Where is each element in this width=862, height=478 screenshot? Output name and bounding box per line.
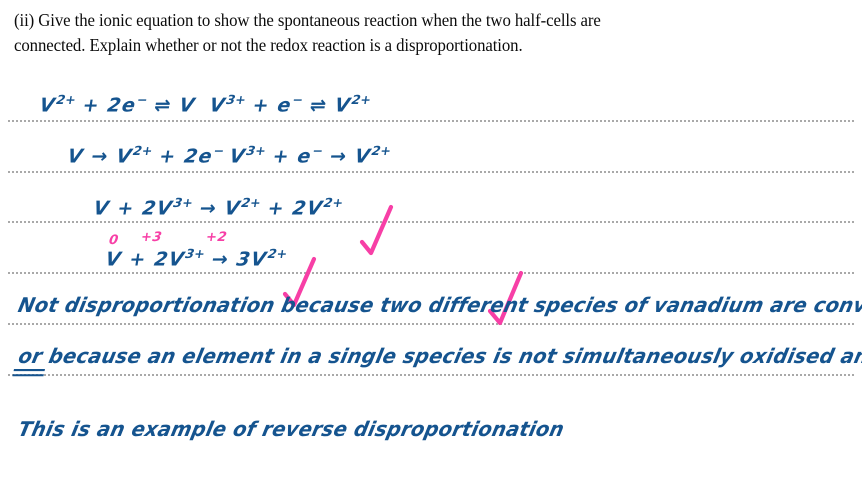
answer-comment-line-2: or because an element in a single specie…: [16, 344, 862, 369]
ruled-line-4: [8, 272, 854, 274]
answer-comment-line-1: Not disproportionation because two diffe…: [16, 293, 862, 317]
answer-comment-line-3: This is an example of reverse disproport…: [16, 417, 566, 441]
equation-overall-simplified: V + 2V3+ → 3V2+: [104, 246, 288, 270]
ruled-line-3: [8, 221, 854, 223]
question-line-1: (ii) Give the ionic equation to show the…: [14, 8, 801, 33]
answer-comment-line-2-text: because an element in a single species i…: [40, 344, 862, 368]
question-text: (ii) Give the ionic equation to show the…: [14, 8, 801, 58]
ruled-line-6: [8, 374, 854, 376]
question-line-2: connected. Explain whether or not the re…: [14, 33, 801, 58]
equation-overall-unsimplified: V + 2V3+ → V2+ + 2V2+: [92, 195, 344, 219]
ruled-line-5: [8, 323, 854, 325]
oxidation-state-label-plus3: +3: [140, 230, 163, 245]
equation-oxidation-half: V → V2+ + 2e−: [66, 143, 225, 167]
answer-sheet: V2+ + 2e− ⇌ V V3+ + e− ⇌ V2+ V → V2+ + 2…: [0, 80, 862, 478]
ruled-line-1: [8, 120, 854, 122]
ruled-line-2: [8, 171, 854, 173]
oxidation-state-label-plus2: +2: [205, 230, 228, 245]
tick-mark-1: [360, 204, 394, 256]
equation-half-cell-v3-v2: V3+ + e− ⇌ V2+: [208, 92, 372, 116]
equation-half-cell-v2-v: V2+ + 2e− ⇌ V: [38, 92, 197, 116]
equation-reduction-half: V3+ + e− → V2+: [228, 143, 392, 167]
